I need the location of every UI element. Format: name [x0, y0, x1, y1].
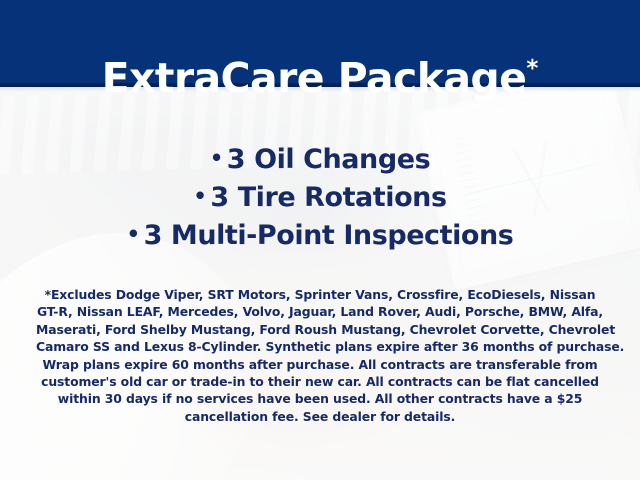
disclaimer-line: cancellation fee. See dealer for details…	[36, 408, 604, 425]
list-item: •3 Oil Changes	[0, 140, 640, 178]
disclaimer-line: Maserati, Ford Shelby Mustang, Ford Rous…	[36, 321, 604, 338]
disclaimer-line: customer's old car or trade-in to their …	[36, 373, 604, 390]
bullet-dot-icon: •	[193, 184, 206, 208]
disclaimer-line: Wrap plans expire 60 months after purcha…	[36, 356, 604, 373]
disclaimer-line: Camaro SS and Lexus 8-Cylinder. Syntheti…	[36, 338, 604, 355]
benefits-list: •3 Oil Changes •3 Tire Rotations •3 Mult…	[0, 140, 640, 254]
disclaimer-line: within 30 days if no services have been …	[36, 390, 604, 407]
disclaimer-line: *Excludes Dodge Viper, SRT Motors, Sprin…	[36, 286, 604, 303]
page-title-asterisk: *	[526, 56, 538, 82]
bullet-dot-icon: •	[127, 222, 140, 246]
list-item-label: 3 Tire Rotations	[210, 182, 446, 213]
list-item-label: 3 Oil Changes	[227, 144, 430, 175]
list-item-label: 3 Multi-Point Inspections	[144, 220, 514, 251]
list-item: •3 Tire Rotations	[0, 178, 640, 216]
page-title: ExtraCare Package*	[0, 43, 640, 104]
extracare-package-poster: ExtraCare Package* •3 Oil Changes •3 Tir…	[0, 0, 640, 480]
list-item: •3 Multi-Point Inspections	[0, 216, 640, 254]
page-title-text: ExtraCare Package	[102, 54, 527, 102]
bullet-dot-icon: •	[210, 146, 223, 170]
disclaimer-line: GT-R, Nissan LEAF, Mercedes, Volvo, Jagu…	[36, 303, 604, 320]
disclaimer-text: *Excludes Dodge Viper, SRT Motors, Sprin…	[36, 286, 604, 425]
